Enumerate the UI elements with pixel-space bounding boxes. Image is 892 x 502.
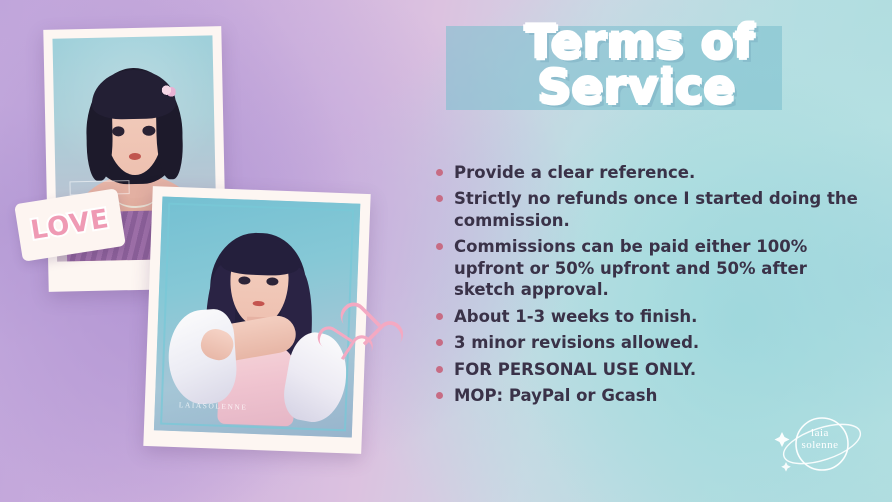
page-title: Terms of Service — [440, 20, 840, 110]
list-item-label: 3 minor revisions allowed. — [454, 333, 699, 352]
list-item: 3 minor revisions allowed. — [432, 332, 864, 353]
list-item: Commissions can be paid either 100% upfr… — [432, 236, 864, 300]
brand-logo-line-two: solenne — [772, 440, 868, 452]
list-item-label: MOP: PayPal or Gcash — [454, 386, 657, 405]
list-item-label: FOR PERSONAL USE ONLY. — [454, 360, 696, 379]
flower-hairpin-icon — [161, 85, 175, 97]
list-item-label: About 1-3 weeks to finish. — [454, 307, 697, 326]
list-item: FOR PERSONAL USE ONLY. — [432, 359, 864, 380]
list-item-label: Strictly no refunds once I started doing… — [454, 189, 858, 229]
poster-canvas: laia LAIASOLENNE LOVE — [0, 0, 892, 502]
list-item: Provide a clear reference. — [432, 162, 864, 183]
brand-logo-line-one: laia — [772, 428, 868, 440]
bullet-icon — [436, 195, 443, 202]
bullet-icon — [436, 339, 443, 346]
list-item-label: Commissions can be paid either 100% upfr… — [454, 237, 807, 299]
terms-list: Provide a clear reference. Strictly no r… — [432, 162, 864, 411]
list-item-label: Provide a clear reference. — [454, 163, 695, 182]
brand-logo-text: laia solenne — [772, 428, 868, 451]
bullet-icon — [436, 366, 443, 373]
heart-icon — [344, 302, 387, 340]
list-item: Strictly no refunds once I started doing… — [432, 188, 864, 231]
bullet-icon — [436, 169, 443, 176]
hearts-doodle — [316, 296, 408, 382]
love-sticker-text: LOVE — [29, 204, 112, 246]
list-item: About 1-3 weeks to finish. — [432, 306, 864, 327]
bullet-icon — [436, 392, 443, 399]
bullet-icon — [436, 243, 443, 250]
page-title-line-one: Terms of — [440, 20, 840, 65]
bullet-icon — [436, 313, 443, 320]
list-item: MOP: PayPal or Gcash — [432, 385, 864, 406]
page-title-line-two: Service — [434, 65, 840, 110]
brand-logo: laia solenne — [772, 410, 868, 480]
